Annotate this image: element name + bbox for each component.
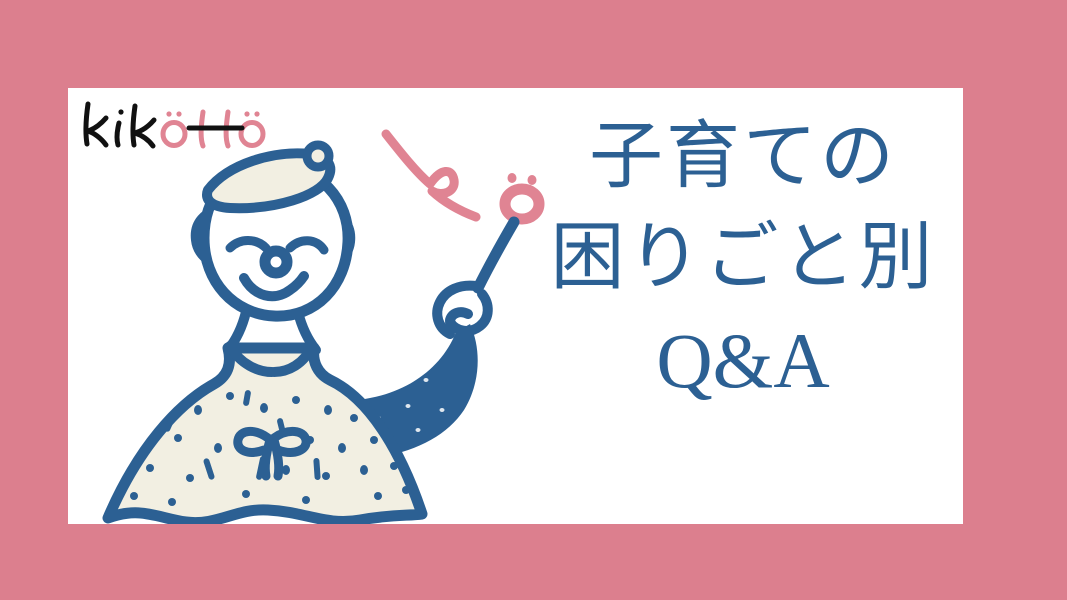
headline-block: 子育ての 困りごと別 Q&A (523, 112, 963, 502)
headline-line-1: 子育ての (589, 120, 897, 195)
headline-line-3: Q&A (656, 321, 829, 401)
magic-wand (478, 222, 514, 288)
fairy-girl-svg (78, 118, 548, 524)
pink-swirl-trail (386, 134, 476, 217)
headline-line-2: 困りごと別 (551, 221, 936, 296)
white-card: 子育ての 困りごと別 Q&A (68, 88, 963, 524)
dress (108, 346, 422, 523)
hand (437, 286, 488, 334)
banner-root: 子育ての 困りごと別 Q&A (0, 0, 1067, 600)
fairy-girl-illustration (78, 118, 548, 524)
